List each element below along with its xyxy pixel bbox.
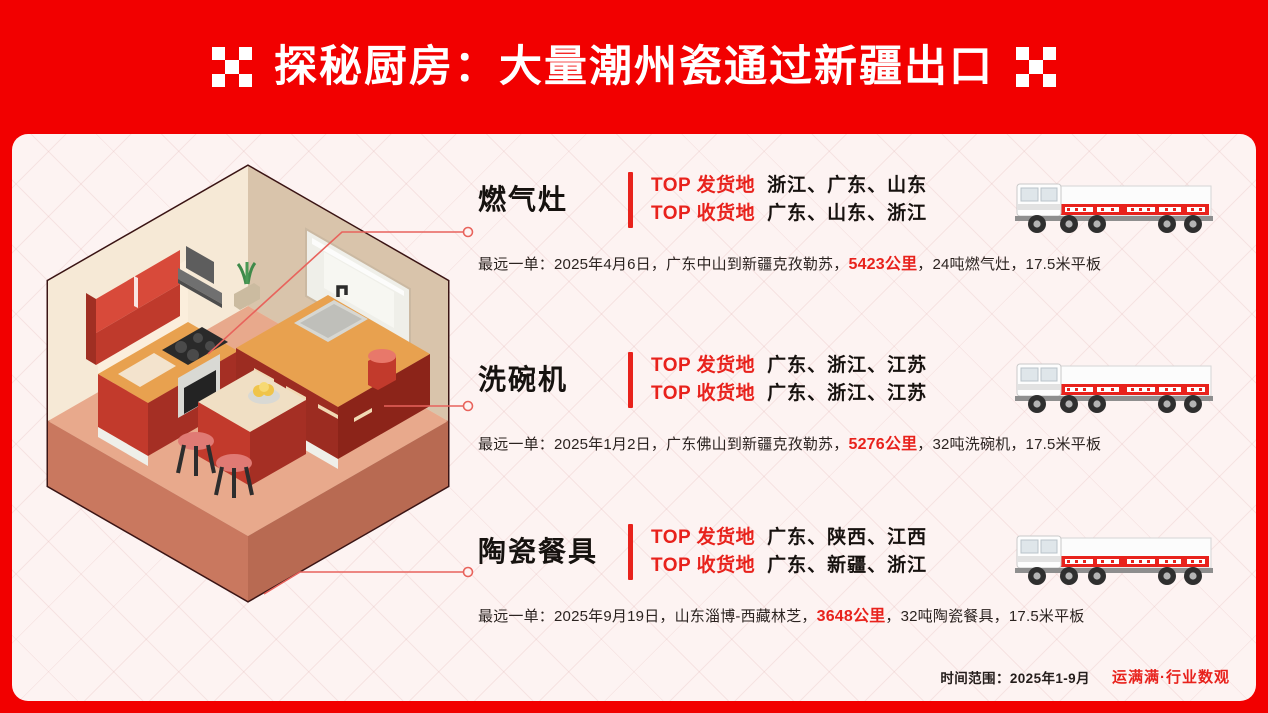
footer: 时间范围：2025年1-9月 运满满·行业数观 [940,666,1230,687]
product-row-dishwasher: 洗碗机 TOP 发货地 广东、浙江、江苏 TOP 收货地 广东、浙江、江苏 [478,352,1248,454]
top-dest-label: TOP 收货地 [651,552,755,580]
product-row-ceramic-tableware: 陶瓷餐具 TOP 发货地 广东、陕西、江西 TOP 收货地 广东、新疆、浙江 [478,524,1248,626]
top-dest-value: 广东、新疆、浙江 [767,552,927,580]
top-origin-value: 广东、浙江、江苏 [767,352,927,380]
farthest-order-note: 最远一单：2025年4月6日，广东中山到新疆克孜勒苏，5423公里，24吨燃气灶… [478,250,1248,274]
top-origin-value: 广东、陕西、江西 [767,524,927,552]
top-dest-label: TOP 收货地 [651,380,755,408]
product-name: 燃气灶 [478,183,628,217]
note-distance: 5423公里 [848,256,917,273]
top-origin-label: TOP 发货地 [651,352,755,380]
farthest-order-note: 最远一单：2025年9月19日，山东淄博-西藏林芝，3648公里，32吨陶瓷餐具… [478,602,1248,626]
note-suffix: ，32吨洗碗机，17.5米平板 [917,436,1101,453]
infographic-poster: 探秘厨房：大量潮州瓷通过新疆出口 [0,0,1268,713]
page-title: 探秘厨房：大量潮州瓷通过新疆出口 [274,46,994,89]
top-dest-label: TOP 收货地 [651,200,755,228]
row-header: 燃气灶 TOP 发货地 浙江、广东、山东 TOP 收货地 广东、山东、浙江 [478,172,1248,228]
flatbed-truck-icon [1007,174,1222,240]
brand-label: 运满满·行业数观 [1112,666,1230,687]
top-origin-value: 浙江、广东、山东 [767,172,927,200]
checker-x-icon-left [212,47,252,87]
content-card: 燃气灶 TOP 发货地 浙江、广东、山东 TOP 收货地 广东、山东、浙江 [12,134,1256,701]
red-divider [628,524,633,580]
row-header: 洗碗机 TOP 发货地 广东、浙江、江苏 TOP 收货地 广东、浙江、江苏 [478,352,1248,408]
farthest-order-note: 最远一单：2025年1月2日，广东佛山到新疆克孜勒苏，5276公里，32吨洗碗机… [478,430,1248,454]
header-bar: 探秘厨房：大量潮州瓷通过新疆出口 [0,0,1268,134]
row-header: 陶瓷餐具 TOP 发货地 广东、陕西、江西 TOP 收货地 广东、新疆、浙江 [478,524,1248,580]
red-divider [628,352,633,408]
top-dest-value: 广东、山东、浙江 [767,200,927,228]
product-name: 陶瓷餐具 [478,535,628,569]
top-origin-label: TOP 发货地 [651,172,755,200]
note-distance: 5276公里 [848,436,917,453]
product-name: 洗碗机 [478,363,628,397]
note-prefix: 最远一单：2025年9月19日，山东淄博-西藏林芝， [478,608,817,625]
flatbed-truck-icon [1007,526,1222,592]
product-rows: 燃气灶 TOP 发货地 浙江、广东、山东 TOP 收货地 广东、山东、浙江 [12,134,1256,701]
note-suffix: ，24吨燃气灶，17.5米平板 [917,256,1101,273]
flatbed-truck-icon [1007,354,1222,420]
note-distance: 3648公里 [817,608,886,625]
top-origin-label: TOP 发货地 [651,524,755,552]
note-prefix: 最远一单：2025年1月2日，广东佛山到新疆克孜勒苏， [478,436,848,453]
note-prefix: 最远一单：2025年4月6日，广东中山到新疆克孜勒苏， [478,256,848,273]
top-dest-value: 广东、浙江、江苏 [767,380,927,408]
time-range-label: 时间范围：2025年1-9月 [940,667,1090,687]
product-row-gas-stove: 燃气灶 TOP 发货地 浙江、广东、山东 TOP 收货地 广东、山东、浙江 [478,172,1248,274]
checker-x-icon-right [1016,47,1056,87]
red-divider [628,172,633,228]
note-suffix: ，32吨陶瓷餐具，17.5米平板 [885,608,1084,625]
